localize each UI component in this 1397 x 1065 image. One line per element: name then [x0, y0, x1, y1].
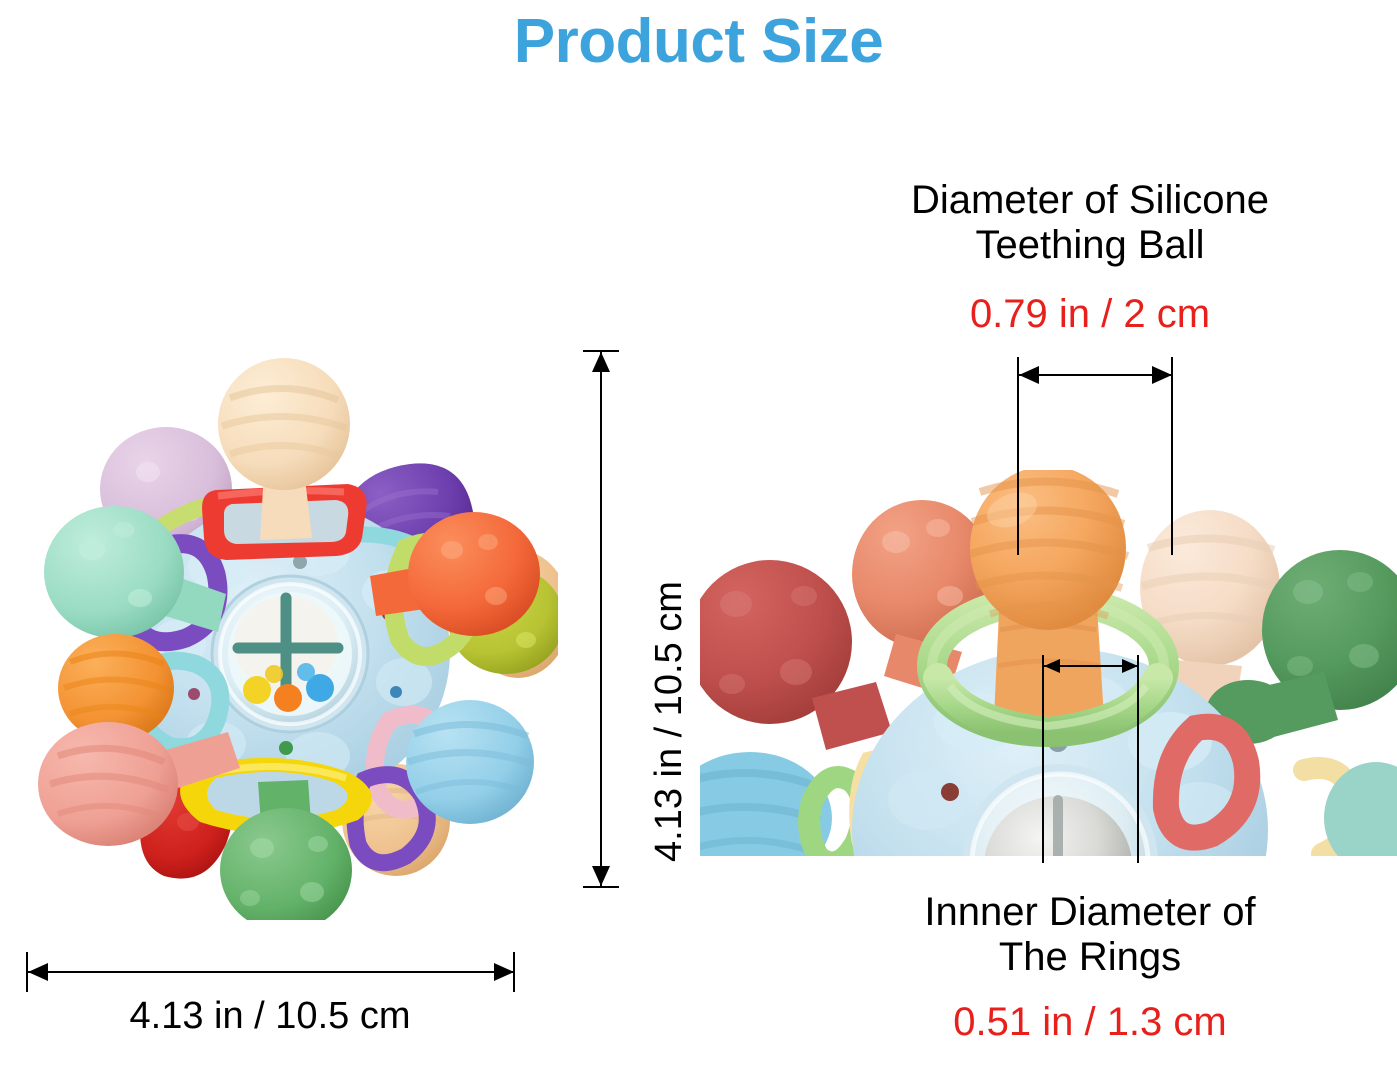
page-title: Product Size [0, 8, 1397, 76]
silicone-ball-label-line1: Diameter of Silicone [820, 178, 1360, 223]
ring-diameter-label-line1: Innner Diameter of [820, 890, 1360, 935]
product-size-infographic: Product Size [0, 0, 1397, 1065]
height-cap-bottom [583, 886, 619, 888]
width-arrow-left [28, 963, 48, 981]
silicone-ball-label: Diameter of Silicone Teething Ball [820, 178, 1360, 268]
ring-ext-line-left [1042, 655, 1044, 863]
ring-ext-line-right [1137, 655, 1139, 863]
ring-diameter-value: 0.51 in / 1.3 cm [820, 1000, 1360, 1045]
width-rule [28, 971, 514, 973]
ball-ext-line-left [1017, 357, 1019, 555]
height-arrow-up [592, 352, 610, 372]
silicone-ball-value: 0.79 in / 2 cm [820, 292, 1360, 337]
height-dimension-label: 4.13 in / 10.5 cm [648, 581, 691, 862]
ring-arrow-right [1122, 659, 1138, 673]
ball-arrow-right [1152, 366, 1172, 384]
ring-diameter-label-line2: The Rings [820, 935, 1360, 980]
width-arrow-right [494, 963, 514, 981]
height-rule [600, 352, 602, 886]
ring-diameter-label: Innner Diameter of The Rings [820, 890, 1360, 980]
left-product-photo [18, 352, 558, 920]
ball-ext-line-right [1171, 357, 1173, 555]
ball-arrow-left [1019, 366, 1039, 384]
silicone-ball-label-line2: Teething Ball [820, 223, 1360, 268]
ring-arrow-left [1044, 659, 1060, 673]
ball-measure-rule [1019, 374, 1172, 376]
height-arrow-down [592, 866, 610, 886]
width-dimension-label: 4.13 in / 10.5 cm [0, 995, 540, 1038]
